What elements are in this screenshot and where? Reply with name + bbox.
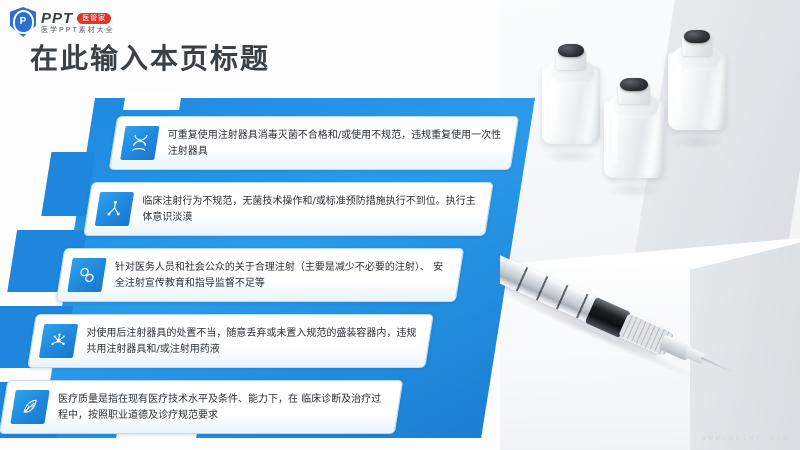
list-item-text: 针对医务人员和社会公众的关于合理注射（主要是减少不必要的注射）、 安全注射宣传教… <box>115 260 449 291</box>
molecule-star-icon <box>39 324 78 358</box>
molecule-tripod-icon <box>95 192 134 226</box>
logo-wordmark: PPT <box>41 11 73 26</box>
logo-text-block: PPT 医管家 医学PPT素材大全 <box>41 11 115 34</box>
vial-cap <box>684 30 711 43</box>
vial-highlight <box>612 112 618 164</box>
list-item[interactable]: 可重复使用注射器具消毒灭菌不合格和/或使用不规范，违规重复使用一次性注射器具 <box>109 116 520 170</box>
page-title: 在此输入本页标题 <box>30 44 270 75</box>
vial-reflection <box>544 148 597 164</box>
vaccine-vial <box>668 30 726 156</box>
list-item-text: 对使用后注射器具的处置不当，随意丢弃或未置入规范的盛装容器内，违规共用注射器具和… <box>87 326 419 357</box>
vial-cap <box>558 44 585 57</box>
shield-icon: P <box>10 7 36 37</box>
list-item-text: 医疗质量是指在现有医疗技术水平及条件、能力下，在 临床诊断及治疗过程中，按照职业… <box>58 392 388 423</box>
logo-subtitle: 医学PPT素材大全 <box>41 27 115 34</box>
card-list: 可重复使用注射器具消毒灭菌不合格和/或使用不规范，违规重复使用一次性注射器具 临… <box>0 98 560 438</box>
content-panel: 可重复使用注射器具消毒灭菌不合格和/或使用不规范，违规重复使用一次性注射器具 临… <box>0 98 560 438</box>
site-watermark: www.ppter.com <box>701 433 790 442</box>
logo-primary-row: PPT 医管家 <box>41 11 115 26</box>
vial-reflection <box>670 134 723 150</box>
syringe-needle <box>701 357 733 373</box>
photo-region <box>500 0 800 450</box>
list-item-text: 可重复使用注射器具消毒灭菌不合格和/或使用不规范，违规重复使用一次性注射器具 <box>168 128 504 159</box>
benzene-rings-icon <box>67 258 106 292</box>
vial-reflection <box>606 182 661 198</box>
vaccine-vial <box>604 78 664 206</box>
slide-canvas: P PPT 医管家 医学PPT素材大全 在此输入本页标题 <box>0 0 800 450</box>
vial-cap <box>620 78 648 91</box>
list-item[interactable]: 医疗质量是指在现有医疗技术水平及条件、能力下，在 临床诊断及治疗过程中，按照职业… <box>0 380 403 434</box>
list-item-text: 临床注射行为不规范，无菌技术操作和/或标准预防措施执行不到位。执行主体意识淡漠 <box>142 194 478 225</box>
leaf-icon <box>10 390 49 424</box>
vial-highlight <box>676 64 682 116</box>
logo-badge: 医管家 <box>77 13 111 24</box>
list-item[interactable]: 针对医务人员和社会公众的关于合理注射（主要是减少不必要的注射）、 安全注射宣传教… <box>56 248 465 302</box>
dna-icon <box>120 126 159 160</box>
syringe-hub <box>684 347 705 364</box>
brand-logo: P PPT 医管家 医学PPT素材大全 <box>10 6 180 38</box>
list-item[interactable]: 对使用后注射器具的处置不当，随意丢弃或未置入规范的盛装容器内，违规共用注射器具和… <box>27 314 434 368</box>
shield-letter: P <box>13 10 34 34</box>
list-item[interactable]: 临床注射行为不规范，无菌技术操作和/或标准预防措施执行不到位。执行主体意识淡漠 <box>83 182 494 236</box>
